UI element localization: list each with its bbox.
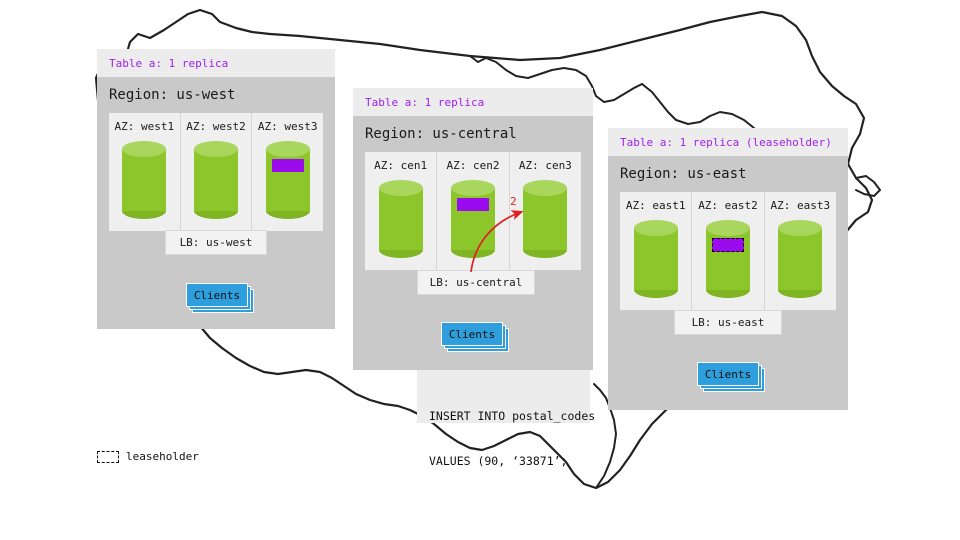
az-label: AZ: west2 <box>186 120 246 133</box>
cylinder-body <box>122 149 166 211</box>
cylinder-top <box>122 141 166 157</box>
region-panel-us-central: Table a: 1 replica Region: us-central AZ… <box>353 88 593 370</box>
az-cell-west3[interactable]: AZ: west3 <box>252 113 323 231</box>
replica-marker-cen2 <box>457 198 489 211</box>
az-cell-west2[interactable]: AZ: west2 <box>181 113 253 231</box>
node-cylinder-west1[interactable] <box>122 141 166 219</box>
table-replica-label: Table a: 1 replica <box>365 96 484 109</box>
sql-line-2: VALUES (90, ‘33871’; <box>429 454 590 469</box>
cylinder-top <box>194 141 238 157</box>
diagram-canvas: Table a: 1 replica Region: us-west AZ: w… <box>0 0 960 540</box>
load-balancer-us-west[interactable]: LB: us-west <box>165 230 267 255</box>
cylinder-body <box>194 149 238 211</box>
replica-marker-east2-leaseholder <box>712 238 744 252</box>
az-label: AZ: east3 <box>771 199 831 212</box>
az-label: AZ: cen3 <box>519 159 572 172</box>
replica-marker-west3 <box>272 159 304 172</box>
az-strip-us-central: AZ: cen1 AZ: cen2 <box>365 152 581 270</box>
load-balancer-us-east[interactable]: LB: us-east <box>674 310 782 335</box>
cylinder-body <box>379 188 423 250</box>
cylinder-body <box>523 188 567 250</box>
cylinder-top <box>451 180 495 196</box>
az-label: AZ: east1 <box>626 199 686 212</box>
clients-us-central[interactable]: Clients <box>441 322 503 346</box>
load-balancer-us-central[interactable]: LB: us-central <box>417 270 535 295</box>
az-cell-cen2[interactable]: AZ: cen2 <box>437 152 509 270</box>
cylinder-top <box>379 180 423 196</box>
region-header-us-west: Table a: 1 replica <box>97 49 335 77</box>
az-label: AZ: west1 <box>115 120 175 133</box>
region-title-us-east: Region: us-east <box>620 166 746 182</box>
node-cylinder-west3[interactable] <box>266 141 310 219</box>
table-replica-label: Table a: 1 replica <box>109 57 228 70</box>
az-cell-east3[interactable]: AZ: east3 <box>765 192 836 310</box>
sql-line-1: INSERT INTO postal_codes <box>429 409 590 424</box>
node-cylinder-cen1[interactable] <box>379 180 423 258</box>
sql-statement-box: INSERT INTO postal_codes VALUES (90, ‘33… <box>417 370 590 423</box>
node-cylinder-east2[interactable] <box>706 220 750 298</box>
cylinder-top <box>778 220 822 236</box>
cylinder-top <box>634 220 678 236</box>
legend-leaseholder: leaseholder <box>97 450 199 463</box>
cylinder-body <box>778 228 822 290</box>
az-cell-cen1[interactable]: AZ: cen1 <box>365 152 437 270</box>
clients-button-label[interactable]: Clients <box>697 362 759 386</box>
az-label: AZ: east2 <box>698 199 758 212</box>
region-header-us-east: Table a: 1 replica (leaseholder) <box>608 128 848 156</box>
clients-us-east[interactable]: Clients <box>697 362 759 386</box>
node-cylinder-cen3[interactable] <box>523 180 567 258</box>
region-panel-us-east: Table a: 1 replica (leaseholder) Region:… <box>608 128 848 410</box>
table-replica-label: Table a: 1 replica (leaseholder) <box>620 136 832 149</box>
region-title-us-central: Region: us-central <box>365 126 517 142</box>
cylinder-top <box>706 220 750 236</box>
cylinder-top <box>266 141 310 157</box>
clients-button-label[interactable]: Clients <box>441 322 503 346</box>
node-cylinder-east3[interactable] <box>778 220 822 298</box>
node-cylinder-west2[interactable] <box>194 141 238 219</box>
az-cell-cen3[interactable]: AZ: cen3 <box>510 152 581 270</box>
az-cell-west1[interactable]: AZ: west1 <box>109 113 181 231</box>
az-cell-east2[interactable]: AZ: east2 <box>692 192 764 310</box>
node-cylinder-east1[interactable] <box>634 220 678 298</box>
region-header-us-central: Table a: 1 replica <box>353 88 593 116</box>
leaseholder-swatch-icon <box>97 451 119 463</box>
arrow-step-label: 2 <box>510 195 517 208</box>
cylinder-body <box>634 228 678 290</box>
node-cylinder-cen2[interactable] <box>451 180 495 258</box>
clients-us-west[interactable]: Clients <box>186 283 248 307</box>
az-strip-us-west: AZ: west1 AZ: west2 <box>109 113 323 231</box>
az-cell-east1[interactable]: AZ: east1 <box>620 192 692 310</box>
region-panel-us-west: Table a: 1 replica Region: us-west AZ: w… <box>97 49 335 329</box>
legend-label: leaseholder <box>126 450 199 463</box>
az-label: AZ: west3 <box>258 120 318 133</box>
az-label: AZ: cen2 <box>447 159 500 172</box>
clients-button-label[interactable]: Clients <box>186 283 248 307</box>
az-label: AZ: cen1 <box>374 159 427 172</box>
az-strip-us-east: AZ: east1 AZ: east2 <box>620 192 836 310</box>
cylinder-top <box>523 180 567 196</box>
region-title-us-west: Region: us-west <box>109 87 235 103</box>
